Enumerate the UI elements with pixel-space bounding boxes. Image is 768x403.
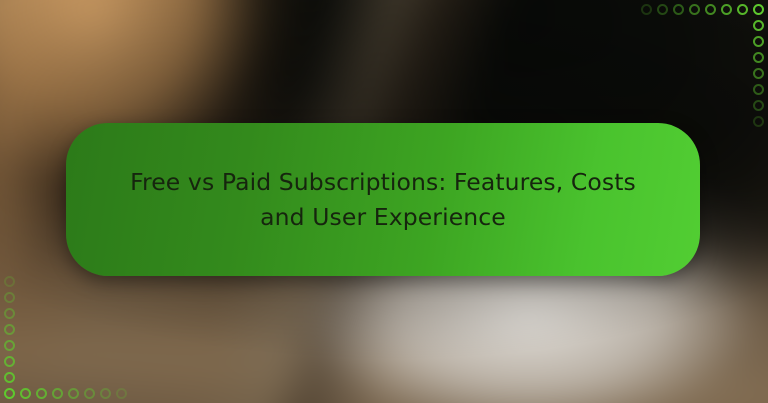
hero-title-card: Free vs Paid Subscriptions: Features, Co… xyxy=(66,123,700,276)
hero-banner: Free vs Paid Subscriptions: Features, Co… xyxy=(0,0,768,403)
page-title: Free vs Paid Subscriptions: Features, Co… xyxy=(123,165,643,234)
